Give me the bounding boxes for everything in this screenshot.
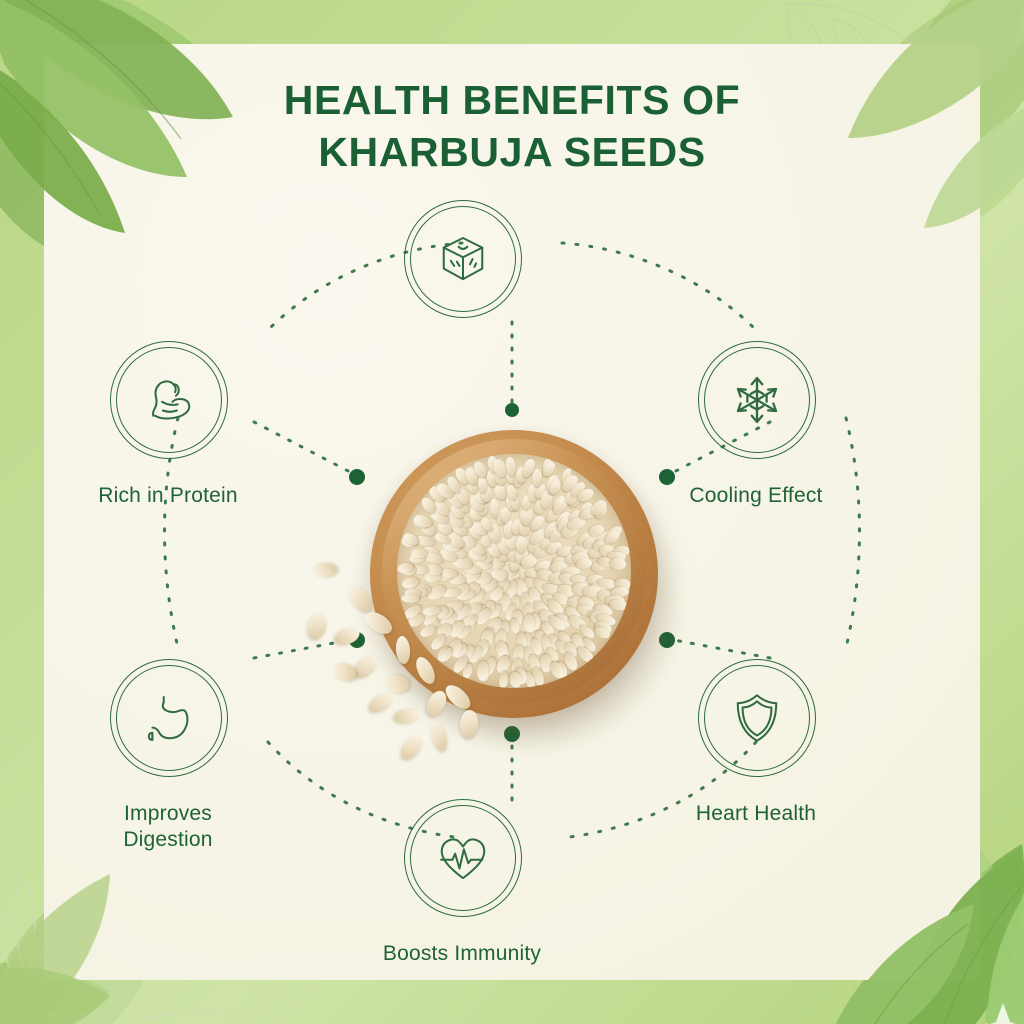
spilled-seed	[351, 652, 381, 681]
spilled-seed	[412, 654, 438, 687]
ring-arc-right	[846, 418, 860, 648]
stomach-icon	[141, 690, 197, 746]
benefit-icon-circle[interactable]	[410, 805, 516, 911]
benefit-icon-circle[interactable]	[704, 347, 810, 453]
spilled-seed	[428, 721, 449, 753]
benefit-icon-circle[interactable]	[410, 206, 516, 312]
benefit-label: Improves Digestion	[28, 801, 308, 853]
spilled-seed	[345, 582, 375, 615]
title-line-1: HEALTH BENEFITS OF	[0, 74, 1024, 126]
shield-icon	[729, 690, 785, 746]
benefit-icon-circle[interactable]	[116, 347, 222, 453]
benefit-label: Cooling Effect	[616, 483, 896, 509]
spilled-seed	[384, 673, 411, 695]
spilled-seed	[330, 660, 359, 685]
title-line-2: KHARBUJA SEEDS	[0, 126, 1024, 178]
spilled-seed	[395, 635, 411, 664]
heart-pulse-icon	[435, 830, 491, 886]
spilled-seed	[333, 625, 362, 648]
spilled-seed	[459, 709, 480, 739]
flexed-bicep-icon	[141, 372, 197, 428]
spilled-seed	[393, 707, 420, 725]
seed	[609, 557, 626, 571]
benefit-icon-circle[interactable]	[704, 665, 810, 771]
benefit-label: Rich in Protein	[28, 483, 308, 509]
spilled-seed	[305, 610, 330, 641]
poster-title: HEALTH BENEFITS OF KHARBUJA SEEDS	[0, 74, 1024, 178]
snowflake-icon	[729, 372, 785, 428]
benefit-label: Boosts Immunity	[322, 941, 602, 967]
seed	[576, 557, 593, 570]
spilled-seed	[366, 690, 396, 716]
ring-arc-top-right	[562, 243, 756, 330]
spilled-seed	[361, 608, 395, 638]
spilled-seeds	[300, 550, 530, 800]
spilled-seed	[313, 563, 337, 577]
sugar-cube-icon	[435, 231, 491, 287]
benefit-icon-circle[interactable]	[116, 665, 222, 771]
infographic-poster: HEALTH BENEFITS OF KHARBUJA SEEDS	[0, 0, 1024, 1024]
benefit-label: Heart Health	[616, 801, 896, 827]
spilled-seed	[397, 732, 426, 763]
seed-bowl-image	[300, 400, 724, 820]
